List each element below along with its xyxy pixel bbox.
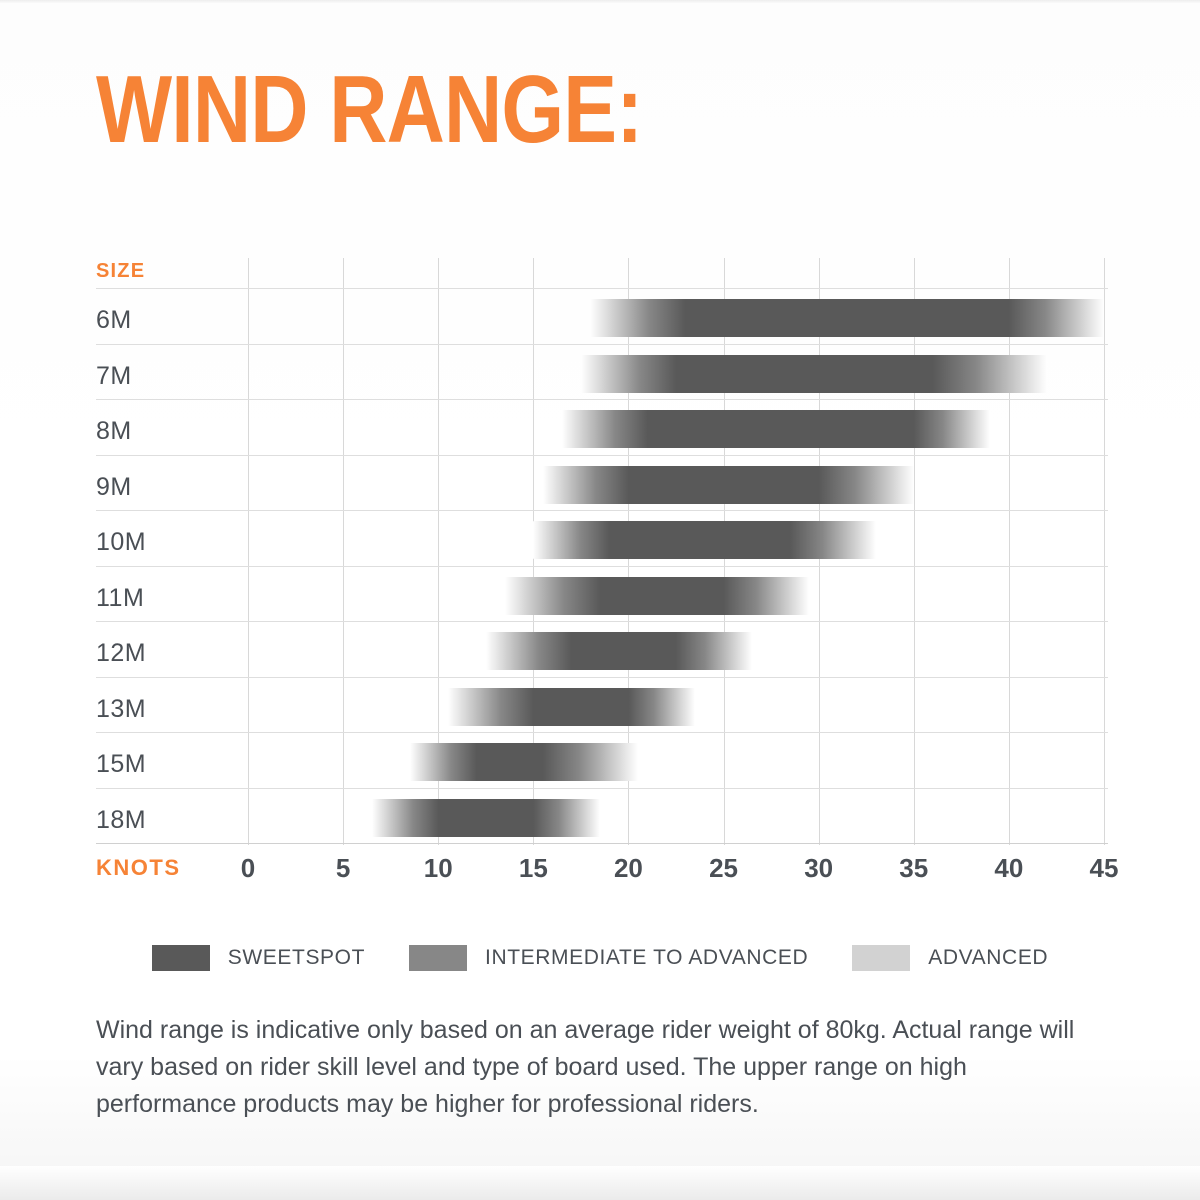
legend-swatch-sweetspot (152, 945, 210, 971)
size-row-label-7m: 7M (96, 364, 132, 389)
x-tick-label-10: 10 (424, 853, 453, 884)
legend-label-sweetspot: SWEETSPOT (228, 946, 365, 970)
gridline-horizontal (96, 344, 1108, 345)
size-column-header: SIZE (96, 260, 145, 283)
gridline-horizontal (96, 399, 1108, 400)
footnote: Wind range is indicative only based on a… (96, 1012, 1114, 1123)
legend-label-advanced: ADVANCED (928, 946, 1048, 970)
x-tick-label-35: 35 (899, 853, 928, 884)
size-row-label-9m: 9M (96, 475, 132, 500)
gridline-horizontal (96, 566, 1108, 567)
wind-range-bar-7m (581, 355, 1047, 393)
legend-swatch-intermediate-to-advanced (409, 945, 467, 971)
legend-swatch-advanced (852, 945, 910, 971)
wind-range-bar-10m (533, 521, 875, 559)
gridline-vertical (1009, 258, 1010, 845)
wind-range-chart: SIZE KNOTS 051015202530354045 6M7M8M9M10… (96, 258, 1108, 858)
x-tick-label-45: 45 (1090, 853, 1119, 884)
page-top-edge (0, 0, 1200, 4)
gridline-horizontal (96, 843, 1108, 844)
gridline-horizontal (96, 621, 1108, 622)
size-row-label-6m: 6M (96, 308, 132, 333)
wind-range-bar-15m (410, 743, 638, 781)
wind-range-infographic: WIND RANGE: SIZE KNOTS 05101520253035404… (0, 0, 1200, 1200)
gridline-horizontal (96, 732, 1108, 733)
x-tick-label-30: 30 (804, 853, 833, 884)
x-tick-label-5: 5 (336, 853, 350, 884)
size-row-label-18m: 18M (96, 808, 146, 833)
size-row-label-11m: 11M (96, 586, 144, 611)
x-axis: KNOTS 051015202530354045 (96, 849, 1108, 889)
chart-legend: SWEETSPOTINTERMEDIATE TO ADVANCEDADVANCE… (0, 945, 1200, 971)
page-bottom-edge (0, 1166, 1200, 1200)
x-axis-title: KNOTS (96, 855, 181, 881)
x-tick-label-40: 40 (994, 853, 1023, 884)
x-tick-label-15: 15 (519, 853, 548, 884)
size-row-label-10m: 10M (96, 530, 146, 555)
gridline-horizontal (96, 510, 1108, 511)
legend-item-advanced: ADVANCED (852, 945, 1048, 971)
size-row-label-12m: 12M (96, 641, 146, 666)
wind-range-bar-11m (505, 577, 809, 615)
wind-range-bar-6m (590, 299, 1104, 337)
x-tick-label-0: 0 (241, 853, 255, 884)
gridline-vertical (914, 258, 915, 845)
wind-range-bar-8m (562, 410, 990, 448)
gridline-vertical (1104, 258, 1105, 845)
size-row-label-8m: 8M (96, 419, 132, 444)
gridline-horizontal (96, 288, 1108, 289)
chart-plot-area (248, 258, 1108, 845)
wind-range-bar-18m (372, 799, 600, 837)
gridline-horizontal (96, 677, 1108, 678)
gridline-horizontal (96, 788, 1108, 789)
legend-item-intermediate-to-advanced: INTERMEDIATE TO ADVANCED (409, 945, 808, 971)
legend-item-sweetspot: SWEETSPOT (152, 945, 365, 971)
gridline-vertical (248, 258, 249, 845)
wind-range-bar-9m (543, 466, 914, 504)
gridline-vertical (343, 258, 344, 845)
x-tick-label-25: 25 (709, 853, 738, 884)
page-title: WIND RANGE: (96, 62, 642, 158)
gridline-horizontal (96, 455, 1108, 456)
size-row-label-15m: 15M (96, 752, 146, 777)
wind-range-bar-13m (448, 688, 695, 726)
legend-label-intermediate-to-advanced: INTERMEDIATE TO ADVANCED (485, 946, 808, 970)
wind-range-bar-12m (486, 632, 752, 670)
size-row-label-13m: 13M (96, 697, 146, 722)
x-tick-label-20: 20 (614, 853, 643, 884)
